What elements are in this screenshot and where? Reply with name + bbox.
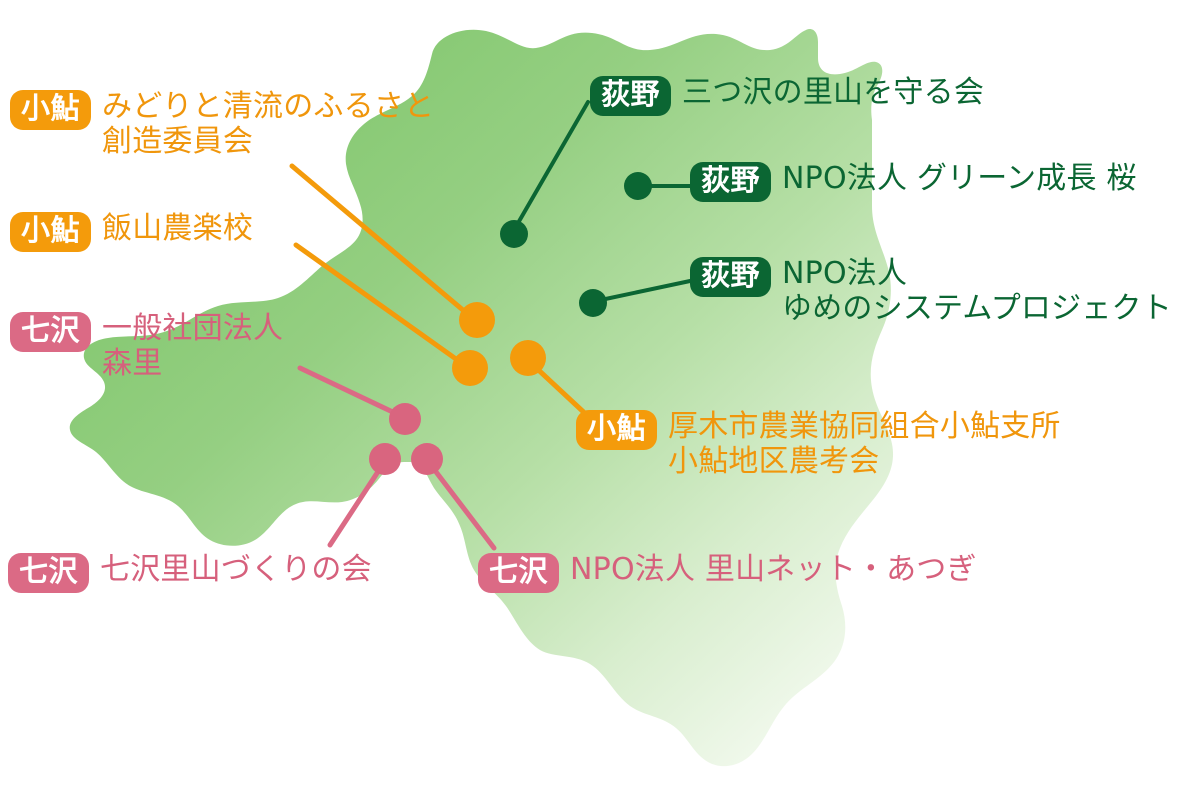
district-badge-koayu: 小鮎	[10, 90, 91, 130]
label-line-1: みどりと清流のふるさと	[102, 89, 434, 124]
label-text-morisato: 一般社団法人 森里	[102, 312, 283, 382]
label-text-nanasawa-satoyama-zukuri: 七沢里山づくりの会	[100, 553, 372, 588]
label-line-1: 飯山農楽校	[102, 211, 253, 246]
label-text-satoyama-net-atsugi: NPO法人 里山ネット・あつぎ	[570, 553, 977, 588]
label-text-iiyama-nougakkou: 飯山農楽校	[102, 212, 253, 247]
district-badge-ogino: 荻野	[690, 257, 771, 297]
marker-ja-koayu[interactable]	[510, 340, 546, 376]
map-infographic: 小鮎 みどりと清流のふるさと 創造委員会 小鮎 飯山農楽校 七沢 一般社団法人 …	[0, 0, 1200, 805]
label-line-2: 創造委員会	[102, 125, 434, 160]
label-npo-satoyama-net-atsugi[interactable]: 七沢 NPO法人 里山ネット・あつぎ	[478, 553, 977, 593]
label-line-1: 厚木市農業協同組合小鮎支所	[668, 409, 1061, 444]
label-line-1: 三つ沢の里山を守る会	[682, 75, 984, 110]
label-text-ja-koayu-shisho: 厚木市農業協同組合小鮎支所 小鮎地区農考会	[668, 410, 1061, 480]
label-line-1: 一般社団法人	[102, 311, 283, 346]
district-badge-ogino: 荻野	[690, 162, 771, 202]
label-ja-koayu-shisho[interactable]: 小鮎 厚木市農業協同組合小鮎支所 小鮎地区農考会	[576, 410, 1061, 480]
label-line-1: 七沢里山づくりの会	[100, 552, 372, 587]
district-badge-koayu: 小鮎	[576, 410, 657, 450]
label-line-2: 小鮎地区農考会	[668, 445, 1061, 480]
label-npo-yumeno-system[interactable]: 荻野 NPO法人 ゆめのシステムプロジェクト	[690, 257, 1172, 327]
label-nanasawa-satoyama-zukuri[interactable]: 七沢 七沢里山づくりの会	[8, 553, 372, 593]
label-line-2: 森里	[102, 347, 283, 382]
label-line-1: NPO法人	[782, 256, 907, 291]
label-iiyama-nougakkou[interactable]: 小鮎 飯山農楽校	[10, 212, 253, 252]
marker-midori-seiryu[interactable]	[459, 302, 495, 338]
marker-mitsuzawa[interactable]	[500, 220, 528, 248]
marker-green-seichou[interactable]	[624, 172, 652, 200]
district-badge-nanasawa: 七沢	[478, 553, 559, 593]
label-line-1: NPO法人 グリーン成長 桜	[782, 161, 1137, 196]
label-mitsuzawa-satoyama[interactable]: 荻野 三つ沢の里山を守る会	[590, 76, 984, 116]
label-npo-green-seichou-sakura[interactable]: 荻野 NPO法人 グリーン成長 桜	[690, 162, 1137, 202]
label-ippan-shadan-morisato[interactable]: 七沢 一般社団法人 森里	[10, 312, 283, 382]
district-badge-ogino: 荻野	[590, 76, 671, 116]
label-text-yumeno-system: NPO法人 ゆめのシステムプロジェクト	[782, 257, 1172, 327]
district-badge-nanasawa: 七沢	[10, 312, 91, 352]
marker-yumeno[interactable]	[579, 289, 607, 317]
marker-satoyama-net[interactable]	[411, 443, 443, 475]
label-text-green-seichou-sakura: NPO法人 グリーン成長 桜	[782, 162, 1137, 197]
label-text-mitsuzawa-satoyama: 三つ沢の里山を守る会	[682, 76, 984, 111]
marker-nanasawa-satoyama[interactable]	[369, 443, 401, 475]
marker-iiyama[interactable]	[452, 350, 488, 386]
label-line-2: ゆめのシステムプロジェクト	[782, 292, 1172, 327]
label-midori-seiryu[interactable]: 小鮎 みどりと清流のふるさと 創造委員会	[10, 90, 434, 160]
district-badge-nanasawa: 七沢	[8, 553, 89, 593]
district-badge-koayu: 小鮎	[10, 212, 91, 252]
label-text-midori-seiryu: みどりと清流のふるさと 創造委員会	[102, 90, 434, 160]
label-line-1: NPO法人 里山ネット・あつぎ	[570, 552, 977, 587]
marker-morisato[interactable]	[389, 403, 421, 435]
